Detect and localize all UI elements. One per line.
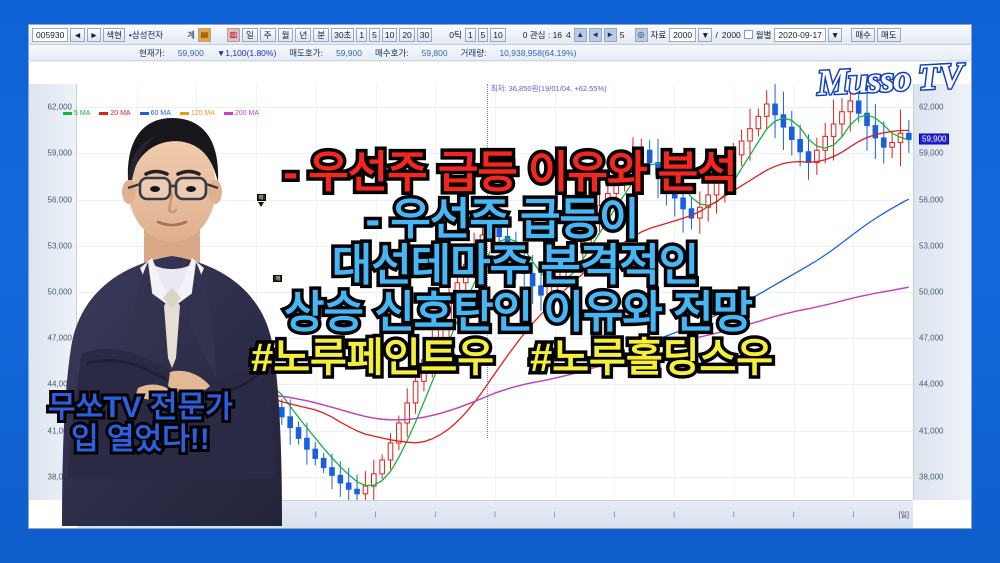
period-button-year[interactable]: 년: [295, 28, 311, 42]
y-axis-tick: 50,000: [919, 288, 943, 297]
slash-separator: /: [714, 30, 718, 40]
x-axis-tick: |: [733, 511, 735, 518]
bid-price-value: 59,800: [422, 48, 448, 58]
change-value: 1,100(1.80%): [225, 48, 276, 58]
x-axis-unit: [일]: [899, 510, 909, 520]
period-button-day[interactable]: 일: [242, 28, 258, 42]
data-total-label: 2000: [721, 30, 742, 40]
x-axis-tick: |: [375, 511, 377, 518]
expert-badge: 무쏘TV 전문가 입 열었다!!: [48, 392, 233, 457]
watchlist-label: 0 관심 : 16: [522, 29, 563, 41]
tick-label: 0틱: [448, 29, 463, 41]
watchlist-number: 4: [565, 30, 572, 40]
x-axis-tick: |: [315, 511, 317, 518]
stock-search-button[interactable]: 색현: [103, 28, 125, 42]
x-axis-tick: |: [434, 511, 436, 518]
x-axis-tick: |: [793, 511, 795, 518]
y-axis-tick: 47,000: [919, 334, 943, 343]
quote-strip: 현재가: 59,900 ▼1,100(1.80%) 매도호가: 59,900 매…: [29, 45, 971, 61]
volume-label: 거래량:: [461, 47, 487, 59]
x-axis-tick: |: [494, 511, 496, 518]
y-axis-tick: 56,000: [919, 195, 943, 204]
chart-type-icon[interactable]: ▥: [227, 28, 240, 42]
ask-price-label: 매도호가:: [289, 47, 323, 59]
tick-button-10[interactable]: 10: [490, 28, 505, 42]
y-axis-tick: 59,000: [919, 149, 943, 158]
current-price-value: 59,900: [178, 48, 204, 58]
y-axis-tick: 41,000: [919, 426, 943, 435]
y-axis-tick: 44,000: [919, 380, 943, 389]
current-price-label: 현재가:: [139, 47, 165, 59]
channel-logo: Musso TV: [816, 54, 963, 104]
presenter-photo: [52, 96, 292, 526]
minute-button-1[interactable]: 1: [356, 28, 367, 42]
volume-value: 10,938,958(64.19%): [499, 48, 576, 58]
change-arrow-icon: ▼: [217, 48, 225, 58]
data-count-input[interactable]: 2000: [669, 28, 696, 42]
period-button-month[interactable]: 월: [278, 28, 294, 42]
data-label: 자료: [650, 29, 668, 41]
chart-toolbar: 005930 ◄ ► 색현 •삼성전자 계 ▤ ▥ 일 주 월 년 분 30초 …: [29, 25, 971, 45]
watchlist-up-icon[interactable]: ▲: [574, 28, 587, 42]
watchlist-number-2: 5: [619, 30, 626, 40]
trade-marker[interactable]: 매: [307, 311, 316, 318]
watchlist-left-icon[interactable]: ◄: [589, 28, 602, 42]
x-axis-tick: |: [673, 511, 675, 518]
buy-button[interactable]: 매수: [851, 28, 875, 42]
account-label: 계: [186, 29, 196, 41]
annotation-guide-line: [487, 84, 488, 438]
y-axis-tick: 62,000: [919, 103, 943, 112]
watchlist-right-icon[interactable]: ►: [604, 28, 617, 42]
x-axis-tick: |: [852, 511, 854, 518]
prev-stock-button[interactable]: ◄: [70, 28, 84, 42]
badge-line-1: 무쏘TV 전문가: [48, 392, 233, 424]
date-dropdown-icon[interactable]: ▼: [828, 28, 842, 42]
price-change: ▼1,100(1.80%): [217, 48, 276, 58]
bid-price-label: 매수호가:: [375, 47, 409, 59]
next-stock-button[interactable]: ►: [87, 28, 101, 42]
minute-button-30s[interactable]: 30초: [331, 28, 354, 42]
account-icon[interactable]: ▤: [198, 28, 211, 42]
data-count-dropdown-icon[interactable]: ▼: [698, 28, 712, 42]
low-price-annotation: 최저: 36,850원(19/01/04, +62.55%): [491, 83, 607, 94]
minute-button-30[interactable]: 30: [417, 28, 432, 42]
thumbnail-canvas: 005930 ◄ ► 색현 •삼성전자 계 ▤ ▥ 일 주 월 년 분 30초 …: [0, 0, 1000, 563]
date-checkbox-label: 월별: [755, 29, 773, 41]
minute-button-20[interactable]: 20: [399, 28, 414, 42]
period-button-minute[interactable]: 분: [313, 28, 329, 42]
y-axis-right: 62,00059,00056,00053,00050,00047,00044,0…: [913, 84, 971, 500]
minute-button-10[interactable]: 10: [382, 28, 397, 42]
y-axis-tick: 53,000: [919, 241, 943, 250]
badge-line-2: 입 열었다!!: [48, 424, 233, 456]
stock-name-label: •삼성전자: [127, 29, 163, 41]
period-button-week[interactable]: 주: [260, 28, 276, 42]
x-axis-tick: |: [614, 511, 616, 518]
minute-button-5[interactable]: 5: [369, 28, 380, 42]
stock-code-input[interactable]: 005930: [32, 28, 68, 42]
y-axis-tick: 38,000: [919, 472, 943, 481]
date-checkbox[interactable]: [744, 30, 753, 39]
x-axis-tick: |: [554, 511, 556, 518]
sell-button[interactable]: 매도: [877, 28, 901, 42]
ask-price-value: 59,900: [336, 48, 362, 58]
tick-button-5[interactable]: 5: [478, 28, 489, 42]
data-settings-icon[interactable]: ◎: [635, 28, 648, 42]
date-input[interactable]: 2020-09-17: [774, 28, 825, 42]
current-price-badge: 59,900: [919, 134, 949, 145]
tick-button-1[interactable]: 1: [465, 28, 476, 42]
